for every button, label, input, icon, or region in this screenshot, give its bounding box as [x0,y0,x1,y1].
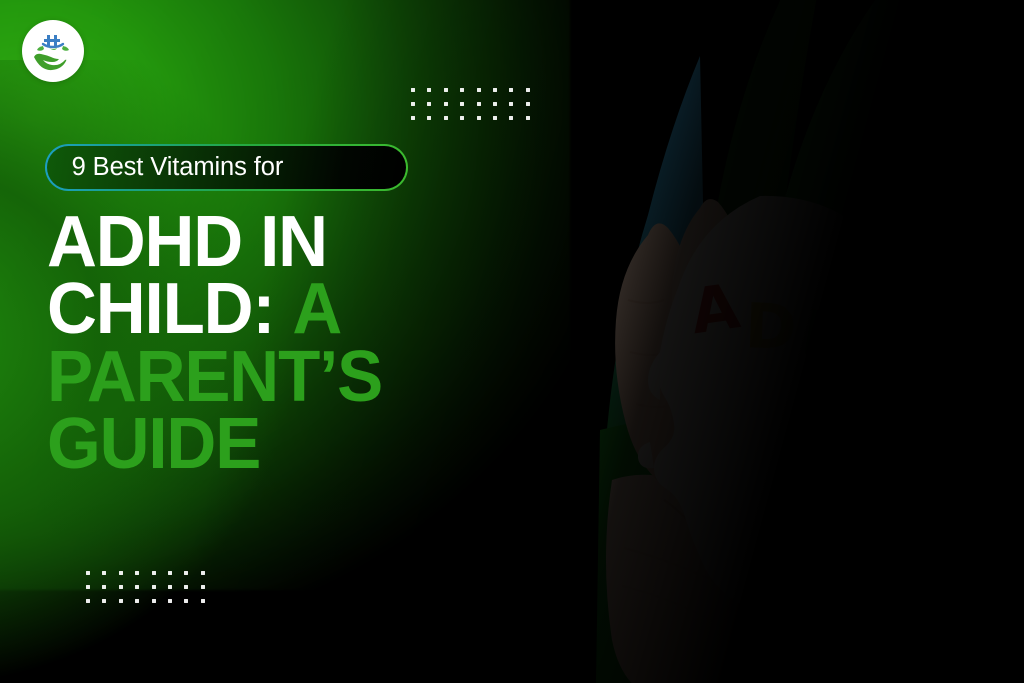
dot-row [86,585,205,599]
dot [477,116,481,120]
dot [184,599,188,603]
dot [460,88,464,92]
hand-leaf-medical-icon [30,30,76,72]
dot [411,88,415,92]
dot [168,599,172,603]
category-badge-label: 9 Best Vitamins for [72,155,284,181]
dot [493,88,497,92]
dot [102,585,106,589]
dot-row [411,116,530,120]
dot [201,571,205,575]
dot [119,571,123,575]
dot [86,599,90,603]
dot [427,116,431,120]
dot [509,116,513,120]
brand-logo[interactable] [22,20,84,82]
dot-row [86,571,205,585]
dot [477,102,481,106]
dot [201,599,205,603]
dot [444,88,448,92]
dot [102,571,106,575]
dot-grid-top [411,88,530,120]
dot [102,599,106,603]
dot [444,102,448,106]
dot [135,571,139,575]
dot-grid-bottom [86,571,205,603]
dot [526,116,530,120]
dot [444,116,448,120]
dot [493,102,497,106]
dot-row [411,102,530,116]
dot [135,599,139,603]
dot [119,585,123,589]
dot [460,116,464,120]
page-title: ADHD IN CHILD: A PARENT’S GUIDE [47,209,567,478]
dot [184,571,188,575]
category-badge-inner: 9 Best Vitamins for [47,146,407,190]
dot [427,88,431,92]
dot [135,585,139,589]
dot [168,585,172,589]
dot [152,571,156,575]
headline-line-3: PARENT’S [47,344,546,411]
dot [427,102,431,106]
dot [86,585,90,589]
headline-line-2: CHILD: A [47,276,546,343]
dot [509,88,513,92]
dot [411,102,415,106]
dot [460,102,464,106]
dot [184,585,188,589]
blog-banner: A D H D [0,0,1024,683]
dot [168,571,172,575]
dot [86,571,90,575]
dot [411,116,415,120]
dot [526,102,530,106]
dot [119,599,123,603]
dot [509,102,513,106]
dot [477,88,481,92]
dot [201,585,205,589]
dot [152,599,156,603]
headline-line-4: GUIDE [47,411,546,478]
dot [493,116,497,120]
dot [526,88,530,92]
category-badge[interactable]: 9 Best Vitamins for [45,144,408,191]
dot-row [86,599,205,603]
dot-row [411,88,530,102]
dot [152,585,156,589]
headline-line-1: ADHD IN [47,209,546,276]
